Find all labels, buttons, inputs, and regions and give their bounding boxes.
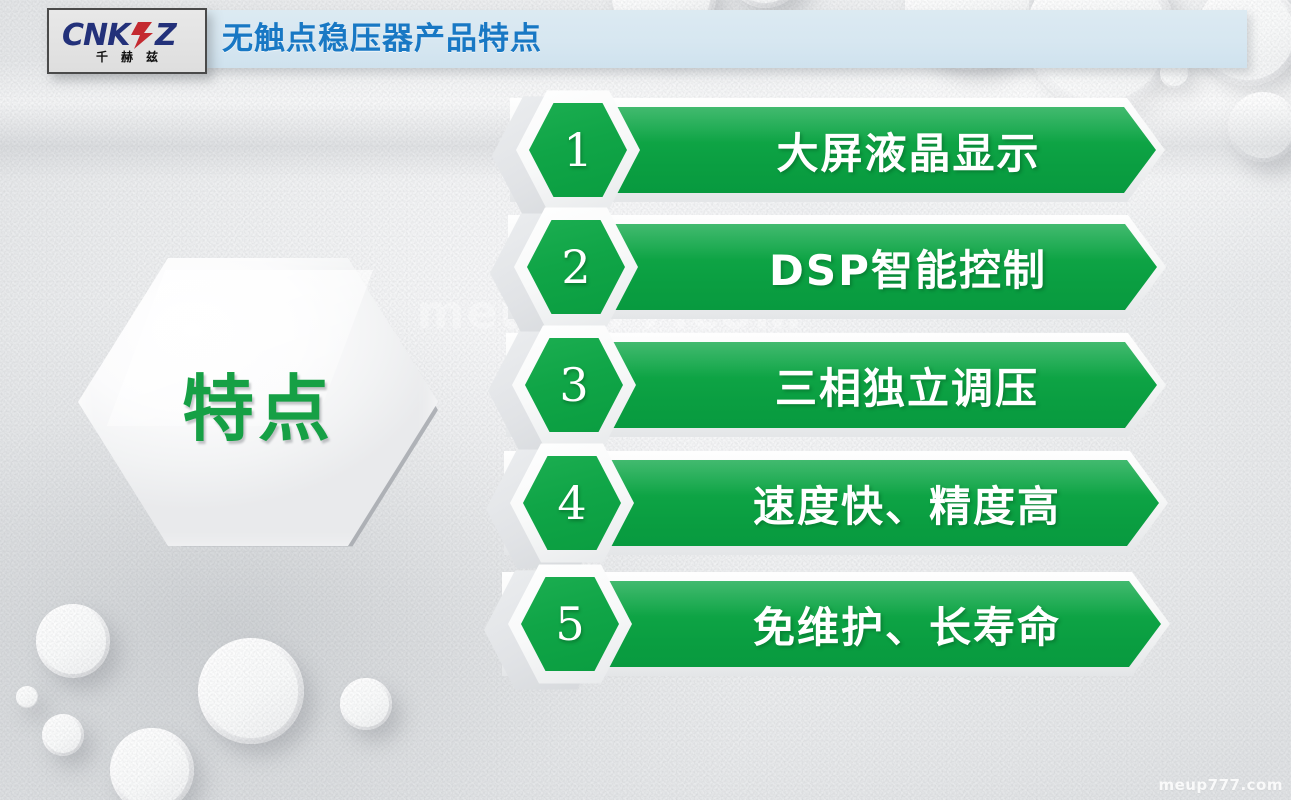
background-disc xyxy=(36,604,110,678)
company-logo: CNK Z 千赫兹 xyxy=(47,8,207,74)
background-disc xyxy=(198,638,304,744)
feature-badge-number: 1 xyxy=(516,88,640,212)
feature-badge[interactable]: 3 xyxy=(512,323,636,447)
background-disc xyxy=(110,728,194,800)
feature-badge[interactable]: 4 xyxy=(510,441,634,565)
feature-row[interactable]: 速度快、精度高 4 xyxy=(504,451,1168,555)
background-disc xyxy=(726,0,804,8)
page-title: 无触点稳压器产品特点 xyxy=(222,16,542,62)
background-disc xyxy=(16,686,38,708)
feature-row[interactable]: 三相独立调压 3 xyxy=(506,333,1166,437)
feature-badge-number: 5 xyxy=(508,562,632,686)
feature-hexagon-label: 特点 xyxy=(78,252,438,552)
feature-label: DSP智能控制 xyxy=(698,224,1118,310)
feature-badge[interactable]: 2 xyxy=(514,205,638,329)
svg-text:Z: Z xyxy=(154,18,178,52)
feature-row[interactable]: 免维护、长寿命 5 xyxy=(502,572,1170,676)
feature-badge[interactable]: 1 xyxy=(516,88,640,212)
feature-badge-number: 4 xyxy=(510,441,634,565)
feature-label: 三相独立调压 xyxy=(696,342,1118,428)
logo-subtitle: 千赫兹 xyxy=(83,50,171,64)
feature-label: 免维护、长寿命 xyxy=(692,581,1122,667)
feature-badge-number: 2 xyxy=(514,205,638,329)
background-disc xyxy=(340,678,392,730)
feature-badge-number: 3 xyxy=(512,323,636,447)
corner-watermark: meup777.com xyxy=(1158,776,1283,794)
background-disc xyxy=(1228,92,1291,162)
logo-wordmark-icon: CNK Z xyxy=(60,18,194,52)
feature-hexagon: 特点 xyxy=(78,252,438,552)
feature-badge[interactable]: 5 xyxy=(508,562,632,686)
feature-label: 大屏液晶显示 xyxy=(700,107,1117,193)
background-disc xyxy=(42,714,84,756)
feature-row[interactable]: 大屏液晶显示 1 xyxy=(510,98,1165,202)
svg-text:CNK: CNK xyxy=(62,18,133,52)
feature-row[interactable]: DSP智能控制 2 xyxy=(508,215,1166,319)
feature-label: 速度快、精度高 xyxy=(694,460,1120,546)
slide-canvas: meup777.com 无触点稳压器产品特点 CNK Z 千赫兹 特点 大屏 xyxy=(0,0,1291,800)
